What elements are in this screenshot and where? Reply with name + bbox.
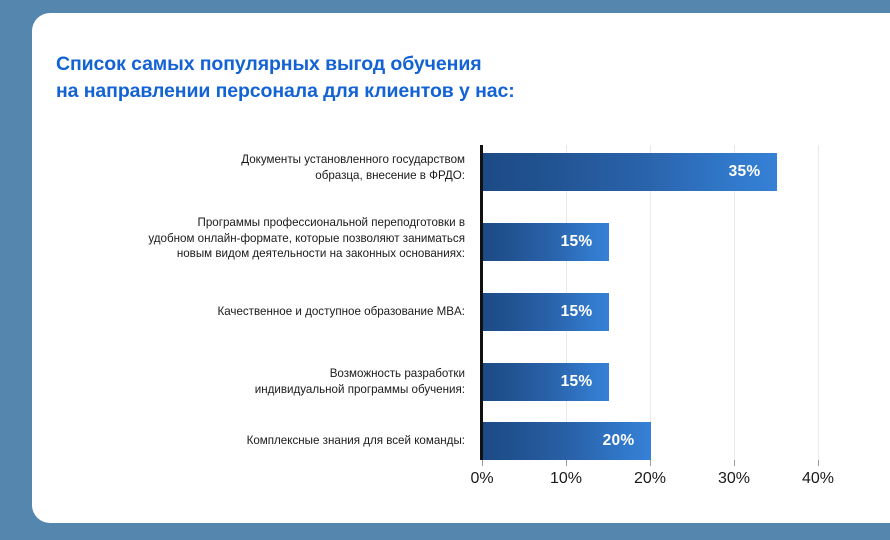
chart-title-line-2: на направлении персонала для клиентов у … <box>56 78 676 105</box>
category-label-line: Программы профессиональной переподготовк… <box>198 216 465 229</box>
category-label: Программы профессиональной переподготовк… <box>79 215 479 262</box>
bar-20[interactable]: 20% <box>483 422 651 460</box>
bar-35[interactable]: 35% <box>483 153 777 191</box>
bar-value-label: 35% <box>729 163 777 181</box>
bar-container: 20% <box>483 422 651 460</box>
category-label-line: индивидуальной программы обучения: <box>255 383 465 396</box>
xtick-label-30: 30% <box>699 470 769 488</box>
xtick-mark-10 <box>566 460 567 466</box>
category-label-line: образца, внесение в ФРДО: <box>315 169 465 182</box>
category-label-line: Комплексные знания для всей команды: <box>247 434 465 447</box>
bar-row: Возможность разработки индивидуальной пр… <box>32 363 890 401</box>
bar-row: Качественное и доступное образование MBA… <box>32 293 890 331</box>
bar-container: 15% <box>483 363 609 401</box>
bar-value-label: 15% <box>561 303 609 321</box>
bar-value-label: 20% <box>603 432 651 450</box>
bar-container: 15% <box>483 293 609 331</box>
category-label: Комплексные знания для всей команды: <box>79 433 479 449</box>
outer-frame: Список самых популярных выгод обучения н… <box>0 0 890 540</box>
category-label-line: Возможность разработки <box>330 367 465 380</box>
bar-value-label: 15% <box>561 373 609 391</box>
category-label: Качественное и доступное образование MBA… <box>79 304 479 320</box>
bar-rows: Документы установленного государством об… <box>32 121 890 491</box>
plot-area: Документы установленного государством об… <box>32 121 890 491</box>
bar-15-a[interactable]: 15% <box>483 223 609 261</box>
chart-title-line-1: Список самых популярных выгод обучения <box>56 51 676 78</box>
bar-row: Документы установленного государством об… <box>32 153 890 191</box>
xtick-mark-40 <box>818 460 819 466</box>
category-label-line: Качественное и доступное образование MBA… <box>217 305 465 318</box>
xtick-mark-0 <box>482 460 483 466</box>
category-label-line: новым видом деятельности на законных осн… <box>177 247 465 260</box>
category-label-line: Документы установленного государством <box>241 153 465 166</box>
xtick-mark-30 <box>734 460 735 466</box>
xtick-label-0: 0% <box>447 470 517 488</box>
xtick-mark-20 <box>650 460 651 466</box>
bar-row: Программы профессиональной переподготовк… <box>32 223 890 261</box>
bar-row: Комплексные знания для всей команды: 20% <box>32 422 890 460</box>
bar-15-b[interactable]: 15% <box>483 293 609 331</box>
bar-container: 15% <box>483 223 609 261</box>
bar-value-label: 15% <box>561 233 609 251</box>
chart-title: Список самых популярных выгод обучения н… <box>56 51 676 105</box>
bar-container: 35% <box>483 153 777 191</box>
category-label-line: удобном онлайн-формате, которые позволяю… <box>148 232 465 245</box>
xtick-label-20: 20% <box>615 470 685 488</box>
category-label: Документы установленного государством об… <box>79 152 479 183</box>
bar-15-c[interactable]: 15% <box>483 363 609 401</box>
category-label: Возможность разработки индивидуальной пр… <box>79 366 479 397</box>
xtick-label-10: 10% <box>531 470 601 488</box>
chart-card: Список самых популярных выгод обучения н… <box>32 13 890 523</box>
xtick-label-40: 40% <box>783 470 853 488</box>
